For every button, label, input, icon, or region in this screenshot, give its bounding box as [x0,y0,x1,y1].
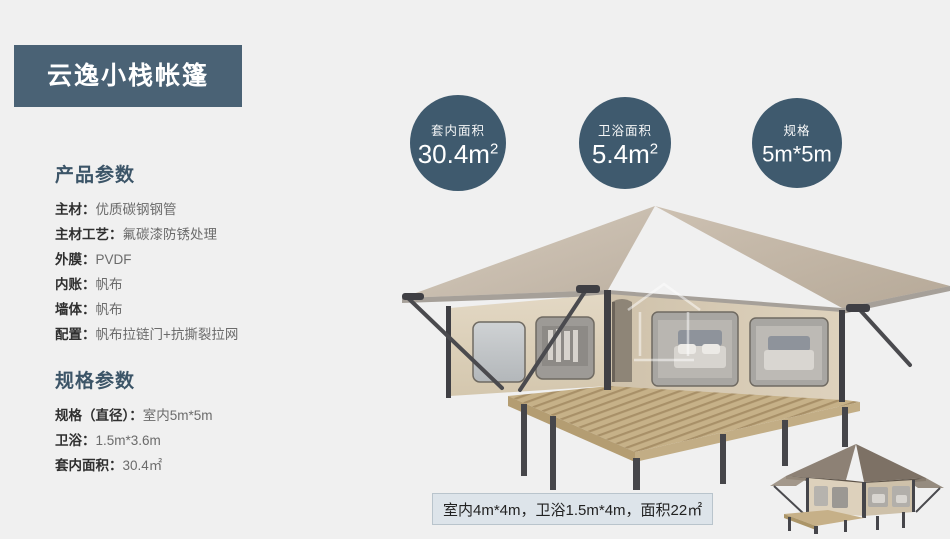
stat-circle-bathroom-area: 卫浴面积 5.4m2 [579,97,671,189]
title-banner: 云逸小栈帐篷 [14,45,242,107]
spec-value: PVDF [96,252,132,267]
spec-key: 外膜： [55,252,96,267]
spec-value: 优质碳钢钢管 [96,202,177,217]
photo-caption: 室内4m*4m，卫浴1.5m*4m，面积22㎡ [432,493,713,525]
specifications-panel: 产品参数 主材：优质碳钢钢管 主材工艺：氟碳漆防锈处理 外膜：PVDF 内账：帆… [0,160,380,478]
spec-row: 卫浴：1.5m*3.6m [55,428,380,453]
spec-key: 墙体： [55,302,96,317]
section-gap [0,347,380,366]
spec-key: 套内面积： [55,458,123,473]
stat-circle-size: 规格 5m*5m [752,98,842,188]
spec-value: 氟碳漆防锈处理 [123,227,218,242]
spec-row: 套内面积：30.4㎡ [55,453,380,478]
spec-row: 主材工艺：氟碳漆防锈处理 [55,222,380,247]
stat-value: 30.4m2 [418,141,499,167]
spec-row: 内账：帆布 [55,272,380,297]
spec-key: 内账： [55,277,96,292]
spec-row: 配置：帆布拉链门+抗撕裂拉网 [55,322,380,347]
safari-tent-thumbnail [768,440,946,534]
product-spec-page: 云逸小栈帐篷 产品参数 主材：优质碳钢钢管 主材工艺：氟碳漆防锈处理 外膜：PV… [0,0,950,534]
spec-value: 帆布拉链门+抗撕裂拉网 [96,327,239,342]
spec-value: 帆布 [96,277,123,292]
spec-value: 帆布 [96,302,123,317]
spec-key: 配置： [55,327,96,342]
spec-value: 1.5m*3.6m [96,433,161,448]
spec-row: 外膜：PVDF [55,247,380,272]
stat-label: 套内面积 [431,120,485,139]
stat-label: 卫浴面积 [598,120,652,139]
stat-label: 规格 [783,120,810,139]
spec-row: 主材：优质碳钢钢管 [55,197,380,222]
stat-value: 5.4m2 [592,141,658,167]
spec-row: 墙体：帆布 [55,297,380,322]
section-heading-dimensions: 规格参数 [55,366,380,393]
section-heading-product: 产品参数 [55,160,380,187]
stat-value: 5m*5m [762,141,832,165]
spec-key: 主材： [55,202,96,217]
spec-row: 规格（直径）：室内5m*5m [55,403,380,428]
caption-text: 室内4m*4m，卫浴1.5m*4m，面积22㎡ [443,499,702,520]
spec-key: 卫浴： [55,433,96,448]
stat-circle-interior-area: 套内面积 30.4m2 [410,95,506,191]
page-title: 云逸小栈帐篷 [47,64,209,89]
spec-value: 30.4㎡ [123,458,163,473]
spec-value: 室内5m*5m [143,408,213,423]
roof-left-slope [402,206,655,298]
spec-key: 规格（直径）： [55,408,143,423]
spec-key: 主材工艺： [55,227,123,242]
roof-right-slope [655,206,950,308]
